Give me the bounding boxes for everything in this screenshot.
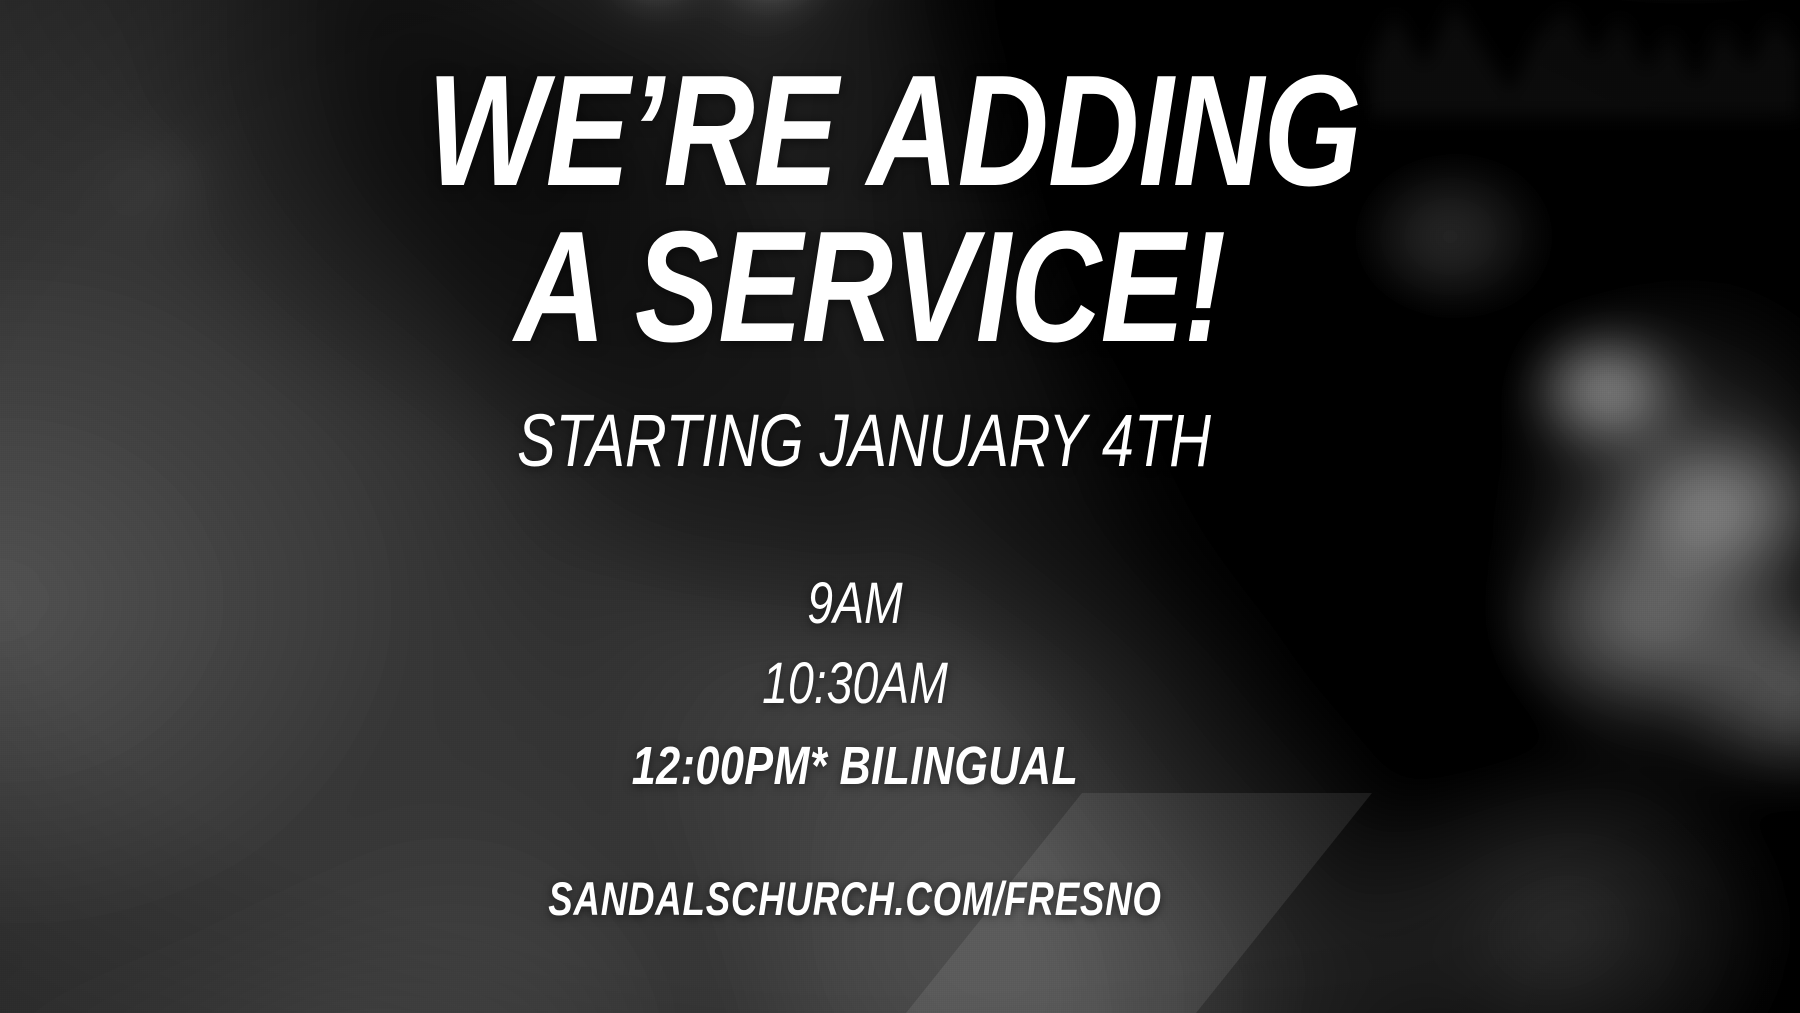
service-time-2: 10:30AM xyxy=(99,650,1611,718)
service-time-3-bilingual: 12:00PM* BILINGUAL xyxy=(99,735,1611,799)
service-times-list: 9AM 10:30AM 12:00PM* BILINGUAL xyxy=(0,570,1800,811)
headline-line-1: WE’RE ADDING xyxy=(169,56,1619,206)
headline-block: WE’RE ADDING A SERVICE! xyxy=(0,56,1800,362)
website-url: SANDALSCHURCH.COM/FRESNO xyxy=(118,875,1592,922)
service-time-1: 9AM xyxy=(99,570,1611,638)
slide-content: WE’RE ADDING A SERVICE! STARTING JANUARY… xyxy=(0,0,1800,1013)
headline-line-2: A SERVICE! xyxy=(126,212,1614,362)
subheadline: STARTING JANUARY 4TH xyxy=(134,404,1594,478)
promo-slide: WE’RE ADDING A SERVICE! STARTING JANUARY… xyxy=(0,0,1800,1013)
